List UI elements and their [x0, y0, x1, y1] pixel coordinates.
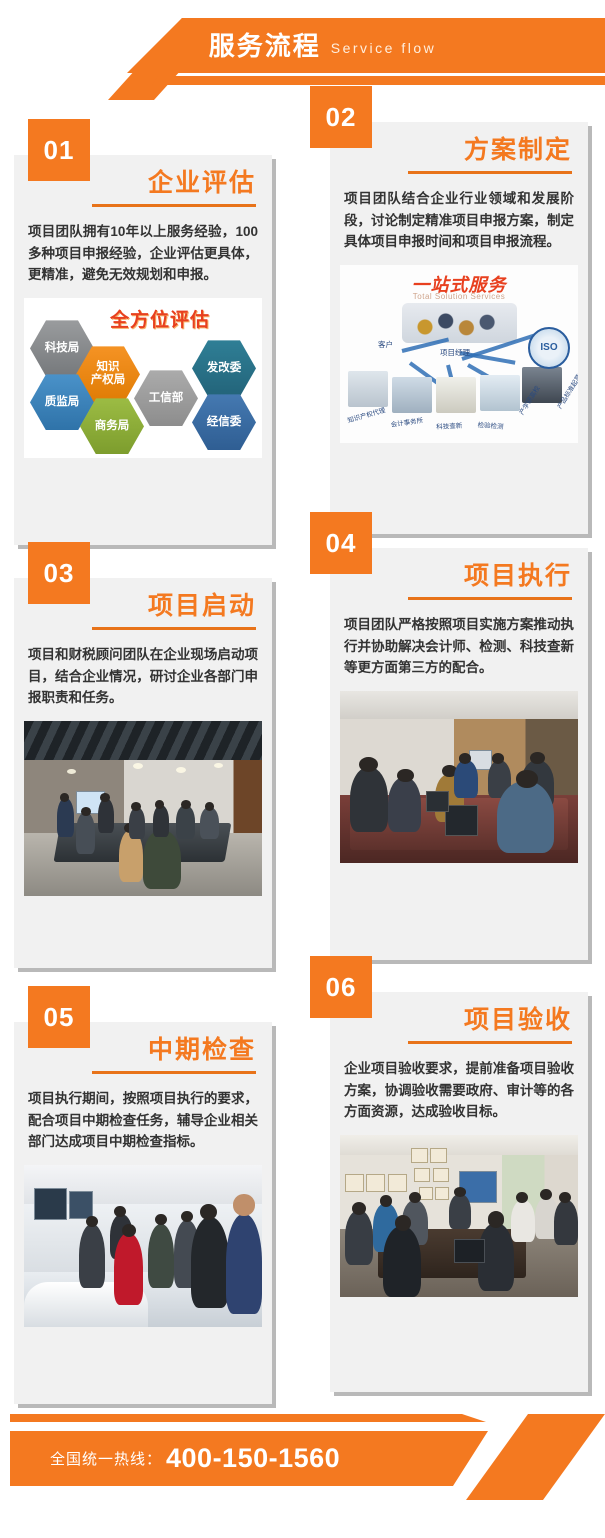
step-description: 项目团队严格按照项目实施方案推动执行并协助解决会计师、检测、科技查新等更方面第三…: [330, 600, 588, 692]
photo-acceptance-meeting: [340, 1135, 578, 1297]
one-stop-service-diagram: 一站式服务 Total Solution Services 客户 项目经理 知识…: [340, 265, 578, 443]
oss-caption-testing: 检验检测: [477, 419, 504, 431]
step-card-05[interactable]: 05 中期检查 项目执行期间，按照项目执行的要求，配合项目中期检查任务，辅导企业…: [14, 1022, 272, 1404]
hexagon-diagram-title: 全方位评估: [110, 305, 210, 332]
step-number-badge: 05: [28, 986, 90, 1048]
oss-thumb-ip: [348, 371, 388, 407]
footer-accent-stripe: [10, 1414, 605, 1422]
oss-thumb-novelty: [436, 377, 476, 413]
step-description: 项目团队拥有10年以上服务经验，100多种项目申报经验，企业评估更具体，更精准，…: [14, 207, 272, 299]
oss-subtitle: Total Solution Services: [340, 292, 578, 301]
header-title-group: 服务流程 Service flow: [0, 18, 605, 73]
oss-node-customer: 客户: [378, 339, 393, 350]
oss-caption-accounting: 会计事务所: [390, 415, 424, 429]
page-header: 服务流程 Service flow: [0, 0, 605, 100]
hotline-group: 全国统一热线： 400-150-1560: [50, 1431, 340, 1486]
oss-thumb-testing: [480, 375, 520, 411]
header-accent-stripe: [0, 76, 605, 85]
hex-node-fagaiwei: 发改委: [192, 340, 256, 396]
page-subtitle: Service flow: [331, 36, 436, 55]
step-description: 项目团队结合企业行业领域和发展阶段，讨论制定精准项目申报方案，制定具体项目申报时…: [330, 174, 588, 266]
page-title: 服务流程: [209, 33, 321, 59]
service-flow-infographic: 服务流程 Service flow 01 企业评估 项目团队拥有10年以上服务经…: [0, 0, 605, 1538]
step-number-badge: 01: [28, 119, 90, 181]
photo-team-working-laptops: [340, 691, 578, 863]
step-description: 项目执行期间，按照项目执行的要求，配合项目中期检查任务，辅导企业相关部门达成项目…: [14, 1074, 272, 1166]
page-footer: 全国统一热线： 400-150-1560: [0, 1414, 605, 1500]
step-card-04[interactable]: 04 项目执行 项目团队严格按照项目实施方案推动执行并协助解决会计师、检测、科技…: [330, 548, 588, 960]
step-number-badge: 03: [28, 542, 90, 604]
step-number-badge: 06: [310, 956, 372, 1018]
oss-thumb-accounting: [392, 377, 432, 413]
oss-caption-novelty: 科技查新: [436, 420, 462, 431]
photo-conference-room-kickoff: [24, 721, 262, 896]
step-card-02[interactable]: 02 方案制定 项目团队结合企业行业领域和发展阶段，讨论制定精准项目申报方案，制…: [330, 122, 588, 534]
hex-node-gongxinbu: 工信部: [134, 370, 198, 426]
photo-showroom-site-visit: [24, 1165, 262, 1327]
oss-caption-ip: 知识产权代理: [346, 405, 386, 425]
step-number-badge: 02: [310, 86, 372, 148]
hexagon-assessment-diagram: 全方位评估 科技局 知识 产权局 发改委 质监局 工信部 商务局 经信委: [24, 298, 262, 458]
step-description: 项目和财税顾问团队在企业现场启动项目，结合企业情况，研讨企业各部门申报职责和任务…: [14, 630, 272, 722]
hex-node-jingxinwei: 经信委: [192, 394, 256, 450]
hotline-number[interactable]: 400-150-1560: [166, 1443, 340, 1474]
oss-iso-seal: [528, 327, 570, 369]
step-number-badge: 04: [310, 512, 372, 574]
oss-hero-photo: [402, 303, 517, 343]
hotline-label: 全国统一热线：: [50, 1448, 162, 1469]
oss-node-project-manager: 项目经理: [440, 347, 470, 358]
step-card-03[interactable]: 03 项目启动 项目和财税顾问团队在企业现场启动项目，结合企业情况，研讨企业各部…: [14, 578, 272, 968]
step-card-01[interactable]: 01 企业评估 项目团队拥有10年以上服务经验，100多种项目申报经验，企业评估…: [14, 155, 272, 545]
step-description: 企业项目验收要求，提前准备项目验收方案，协调验收需要政府、审计等的各方面资源，达…: [330, 1044, 588, 1136]
step-card-06[interactable]: 06 项目验收 企业项目验收要求，提前准备项目验收方案，协调验收需要政府、审计等…: [330, 992, 588, 1392]
footer-diagonal-wedge: [466, 1414, 605, 1500]
